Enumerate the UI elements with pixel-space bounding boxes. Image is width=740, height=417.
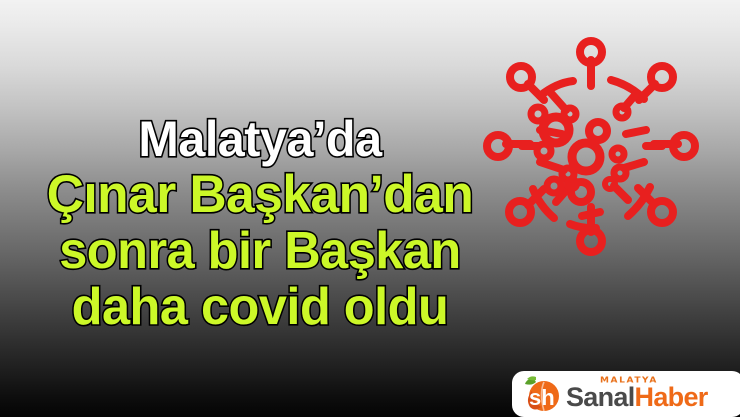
headline-line-4: daha covid oldu bbox=[8, 279, 512, 335]
site-logo[interactable]: sh MALATYA SanalHaber bbox=[512, 371, 740, 417]
logo-title: SanalHaber bbox=[566, 382, 708, 413]
logo-word-secondary: Haber bbox=[635, 382, 708, 412]
coronavirus-icon bbox=[478, 34, 702, 262]
apricot-sh-icon: sh bbox=[518, 373, 564, 415]
headline-line-3: sonra bir Başkan bbox=[8, 223, 512, 279]
headline-line-1: Malatya’da bbox=[8, 112, 512, 166]
headline-line-2: Çınar Başkan’dan bbox=[8, 166, 512, 223]
logo-word-primary: Sanal bbox=[566, 382, 635, 412]
logo-wordmark: MALATYA SanalHaber bbox=[566, 373, 740, 415]
svg-text:sh: sh bbox=[529, 385, 555, 410]
news-graphic-canvas: Malatya’da Çınar Başkan’dan sonra bir Ba… bbox=[0, 0, 740, 417]
headline-block: Malatya’da Çınar Başkan’dan sonra bir Ba… bbox=[0, 112, 520, 335]
